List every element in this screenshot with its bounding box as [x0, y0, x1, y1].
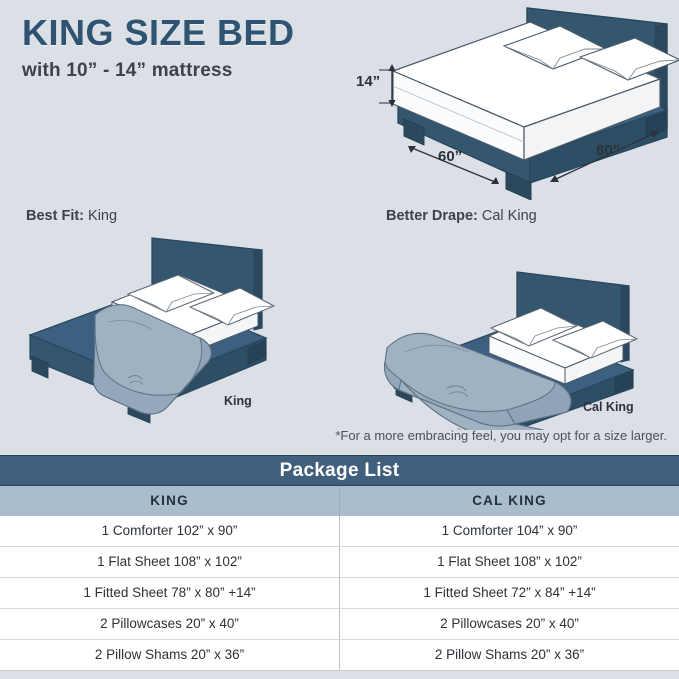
cell-king: 1 Flat Sheet 108” x 102” [0, 547, 340, 577]
table-column-header-row: KING CAL KING [0, 486, 679, 516]
cell-cal-king: 2 Pillow Shams 20” x 36” [340, 640, 679, 670]
best-fit-label-bold: Best Fit: [26, 208, 84, 224]
size-guide-page: KING SIZE BED with 10” - 14” mattress [0, 0, 679, 679]
table-row: 1 Flat Sheet 108” x 102” 1 Flat Sheet 10… [0, 547, 679, 578]
hero-bed-illustration [0, 0, 679, 200]
best-fit-label: Best Fit: King [26, 208, 117, 224]
package-list-title: Package List [0, 455, 679, 486]
cell-king: 2 Pillowcases 20” x 40” [0, 609, 340, 639]
better-drape-label-bold: Better Drape: [386, 208, 478, 224]
cal-king-bed-caption: Cal King [583, 400, 634, 414]
king-bed-illustration [0, 230, 340, 430]
cell-king: 2 Pillow Shams 20” x 36” [0, 640, 340, 670]
cell-king: 1 Comforter 102” x 90” [0, 516, 340, 546]
better-drape-label-value: Cal King [478, 208, 537, 224]
better-drape-label: Better Drape: Cal King [386, 208, 537, 224]
dimension-height-label: 14” [356, 73, 380, 90]
column-header-king: KING [0, 486, 340, 516]
table-row: 2 Pillowcases 20” x 40” 2 Pillowcases 20… [0, 609, 679, 640]
dimension-width-label: 60” [438, 148, 462, 165]
cell-cal-king: 1 Fitted Sheet 72” x 84” +14” [340, 578, 679, 608]
king-bed-caption: King [224, 394, 252, 408]
footnote-text: *For a more embracing feel, you may opt … [335, 428, 667, 443]
cell-cal-king: 1 Flat Sheet 108” x 102” [340, 547, 679, 577]
package-list-table: Package List KING CAL KING 1 Comforter 1… [0, 455, 679, 671]
table-row: 1 Fitted Sheet 78” x 80” +14” 1 Fitted S… [0, 578, 679, 609]
table-row: 2 Pillow Shams 20” x 36” 2 Pillow Shams … [0, 640, 679, 671]
best-fit-label-value: King [84, 208, 117, 224]
column-header-cal-king: CAL KING [340, 486, 679, 516]
cell-king: 1 Fitted Sheet 78” x 80” +14” [0, 578, 340, 608]
cell-cal-king: 2 Pillowcases 20” x 40” [340, 609, 679, 639]
table-row: 1 Comforter 102” x 90” 1 Comforter 104” … [0, 516, 679, 547]
cell-cal-king: 1 Comforter 104” x 90” [340, 516, 679, 546]
dimension-length-label: 80” [596, 142, 620, 159]
